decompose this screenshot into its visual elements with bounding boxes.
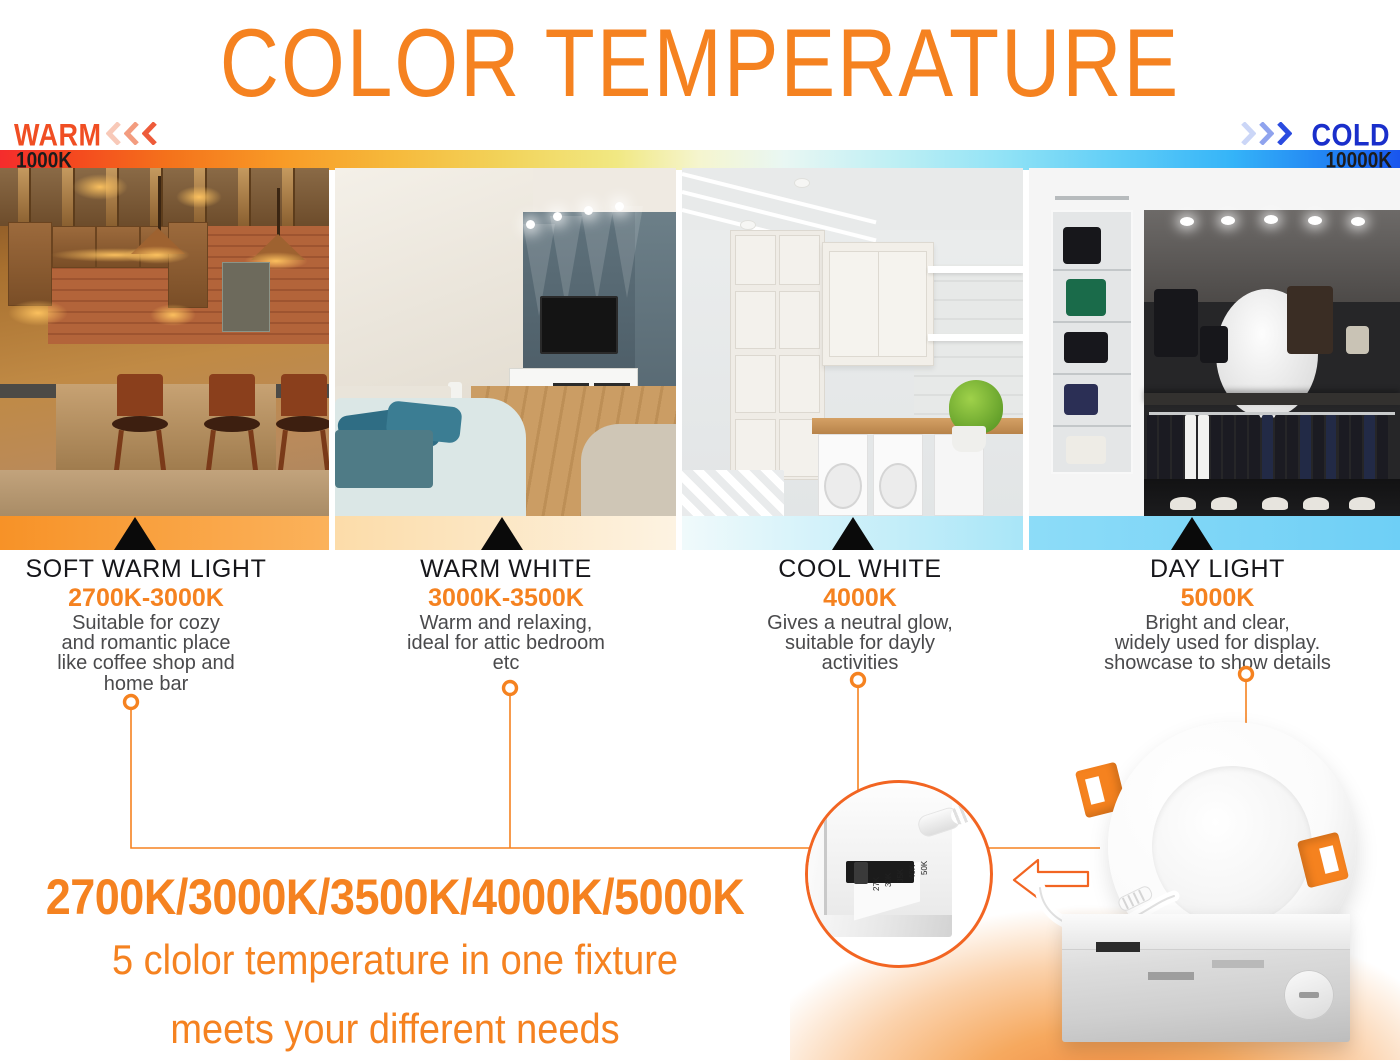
page-title: COLOR TEMPERATURE <box>0 16 1400 113</box>
infographic-canvas: COLOR TEMPERATURE WARM COLD 1000K 10000K <box>0 0 1400 1060</box>
switch-detail-callout: 50K 40K 35K 30K 27K <box>805 780 993 968</box>
caption-day-light: DAY LIGHT 5000K Bright and clear, widely… <box>1045 556 1390 674</box>
switch-label-40k: 40K <box>908 865 917 879</box>
caption-title: COOL WHITE <box>700 556 1020 582</box>
caption-line-1: Bright and clear, <box>1045 613 1390 633</box>
band-segment-warm-white <box>335 516 676 550</box>
scene-photo-cool-white <box>682 168 1023 516</box>
caption-line-1: Suitable for cozy <box>0 613 320 633</box>
caption-line-3: showcase to show details <box>1045 653 1390 673</box>
caption-kelvin: 5000K <box>1045 585 1390 611</box>
caption-soft-warm-light: SOFT WARM LIGHT 2700K-3000K Suitable for… <box>10 556 320 694</box>
footer-tagline-line2: meets your different needs <box>0 999 790 1061</box>
product-photo-area: 50K 40K 35K 30K 27K <box>790 700 1400 1060</box>
caption-line-2: and romantic place <box>0 633 320 653</box>
pointer-triangle-icon <box>832 517 874 550</box>
caption-row: SOFT WARM LIGHT 2700K-3000K Suitable for… <box>0 556 1400 696</box>
caption-line-4: home bar <box>0 674 320 694</box>
scene-photo-strip <box>0 168 1400 516</box>
caption-title: DAY LIGHT <box>1045 556 1390 582</box>
caption-kelvin: 4000K <box>700 585 1020 611</box>
footer-text-block: 2700K/3000K/3500K/4000K/5000K 5 clolor t… <box>0 868 790 1056</box>
footer-kelvin-list: 2700K/3000K/3500K/4000K/5000K <box>0 868 790 926</box>
footer-tagline-line1: 5 clolor temperature in one fixture <box>0 930 790 993</box>
junction-box <box>1062 914 1350 1042</box>
caption-line-1: Warm and relaxing, <box>350 613 662 633</box>
band-segment-day-light <box>1029 516 1400 550</box>
connector-node-icon <box>125 696 138 709</box>
switch-label-50k: 50K <box>920 861 929 875</box>
caption-warm-white: WARM WHITE 3000K-3500K Warm and relaxing… <box>350 556 662 674</box>
caption-kelvin: 3000K-3500K <box>350 585 662 611</box>
caption-line-1: Gives a neutral glow, <box>700 613 1020 633</box>
scene-photo-soft-warm-light <box>0 168 329 516</box>
caption-line-2: widely used for display. <box>1045 633 1390 653</box>
scene-color-band <box>0 516 1400 550</box>
temperature-scale-header: WARM COLD <box>0 118 1400 150</box>
switch-label-27k: 27K <box>872 877 881 891</box>
caption-kelvin: 2700K-3000K <box>0 585 320 611</box>
switch-label-30k: 30K <box>884 873 893 887</box>
scene-photo-warm-white <box>335 168 676 516</box>
switch-label-35k: 35K <box>896 869 905 883</box>
band-segment-cool-white <box>682 516 1023 550</box>
switch-position-labels: 50K 40K 35K 30K 27K <box>848 869 928 915</box>
pointer-triangle-icon <box>114 517 156 550</box>
kelvin-gradient-bar <box>0 150 1400 170</box>
led-downlight-product <box>1040 718 1370 1048</box>
scene-photo-day-light <box>1029 168 1400 516</box>
caption-title: WARM WHITE <box>350 556 662 582</box>
caption-line-3: activities <box>700 653 1020 673</box>
band-segment-soft-warm-light <box>0 516 329 550</box>
warm-arrows-icon <box>106 122 157 145</box>
cable-knockout <box>1284 970 1334 1020</box>
pointer-triangle-icon <box>481 517 523 550</box>
caption-title: SOFT WARM LIGHT <box>0 556 320 582</box>
caption-line-2: ideal for attic bedroom <box>350 633 662 653</box>
caption-line-3: like coffee shop and <box>0 653 320 673</box>
cold-arrows-icon <box>1241 122 1292 145</box>
caption-line-2: suitable for dayly <box>700 633 1020 653</box>
caption-line-3: etc <box>350 653 662 673</box>
pointer-triangle-icon <box>1171 517 1213 550</box>
caption-cool-white: COOL WHITE 4000K Gives a neutral glow, s… <box>700 556 1020 674</box>
